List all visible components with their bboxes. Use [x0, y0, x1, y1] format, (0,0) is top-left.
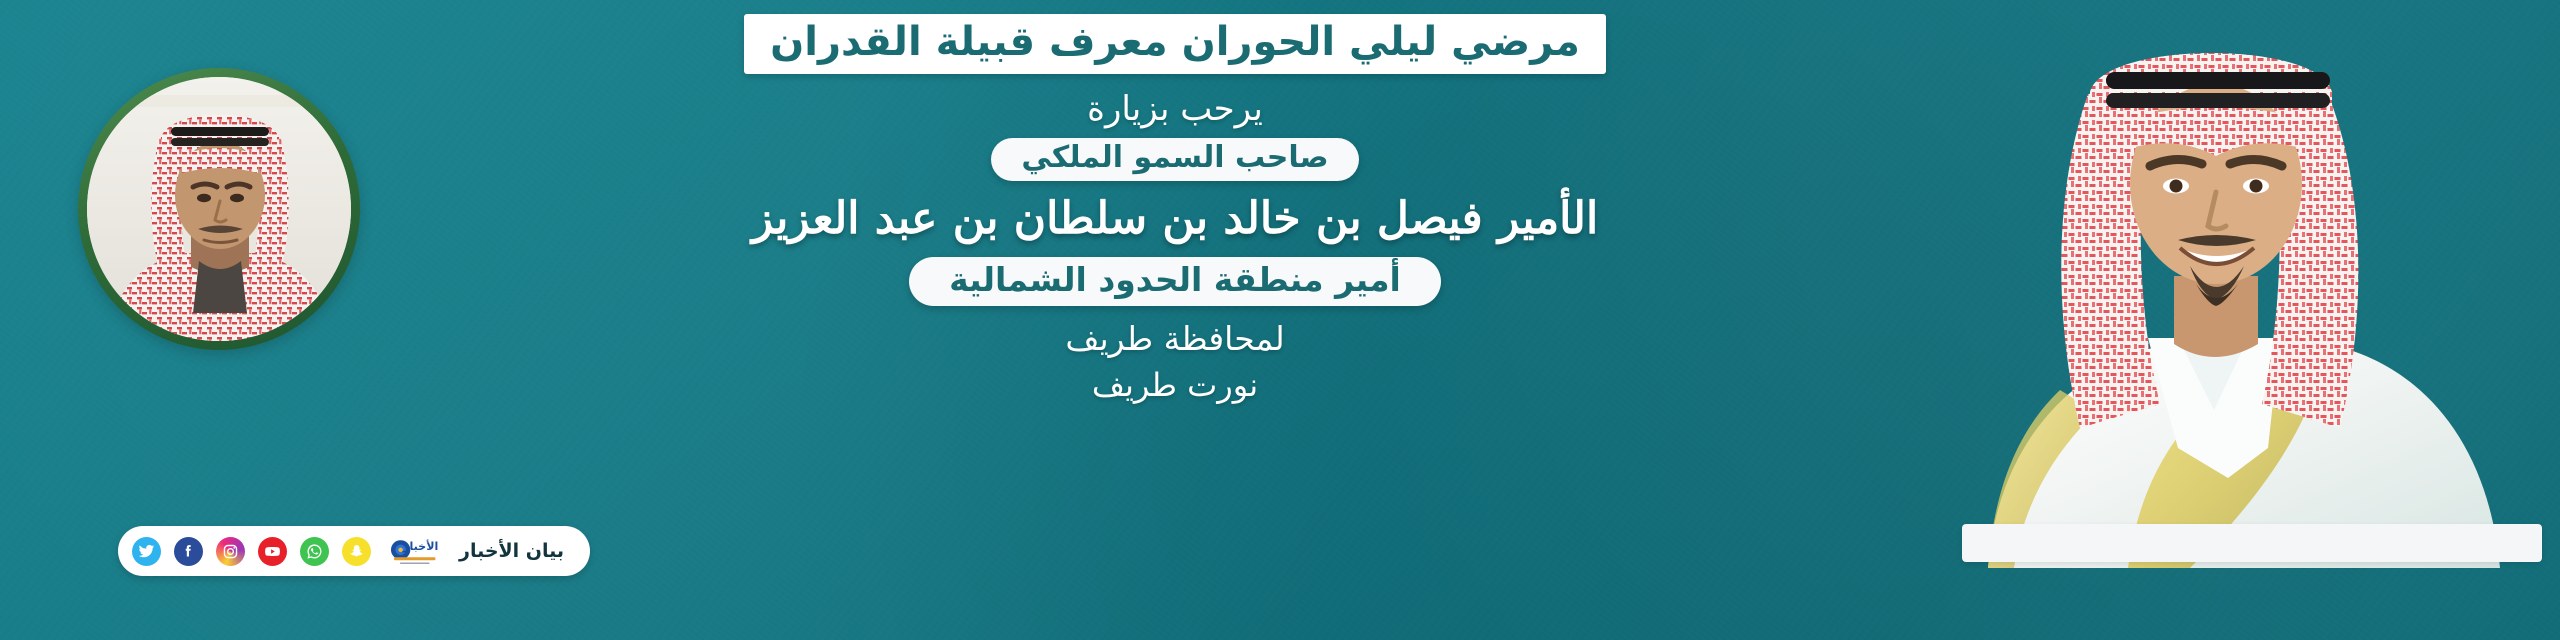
youtube-icon[interactable]	[258, 537, 287, 566]
instagram-icon[interactable]	[216, 537, 245, 566]
headline-title: مرضي ليلي الحوران معرف قبيلة القدران	[744, 14, 1606, 74]
news-banner: الأخبار بيان الأخبار مرضي ليلي الحوران م…	[0, 0, 2560, 640]
prince-role-pill: أمير منطقة الحدود الشمالية	[909, 257, 1441, 306]
left-portrait-image	[87, 77, 351, 341]
center-text-block: مرضي ليلي الحوران معرف قبيلة القدران يرح…	[430, 0, 1920, 640]
welcome-line: يرحب بزيارة	[1087, 92, 1263, 126]
destination-line: لمحافظة طريف	[1065, 322, 1284, 355]
right-portrait-illustration	[1928, 8, 2548, 568]
closing-line: نورت طريف	[1092, 369, 1258, 401]
left-portrait-illustration	[87, 77, 351, 341]
prince-name-line: الأمير فيصل بن خالد بن سلطان بن عبد العز…	[752, 197, 1598, 241]
right-caption-bar	[1962, 524, 2542, 562]
twitter-icon[interactable]	[132, 537, 161, 566]
facebook-icon[interactable]	[174, 537, 203, 566]
left-portrait-avatar	[78, 68, 360, 350]
snapchat-icon[interactable]	[342, 537, 371, 566]
right-portrait-image	[1928, 8, 2548, 568]
royal-title-pill: صاحب السمو الملكي	[991, 138, 1358, 181]
whatsapp-icon[interactable]	[300, 537, 329, 566]
